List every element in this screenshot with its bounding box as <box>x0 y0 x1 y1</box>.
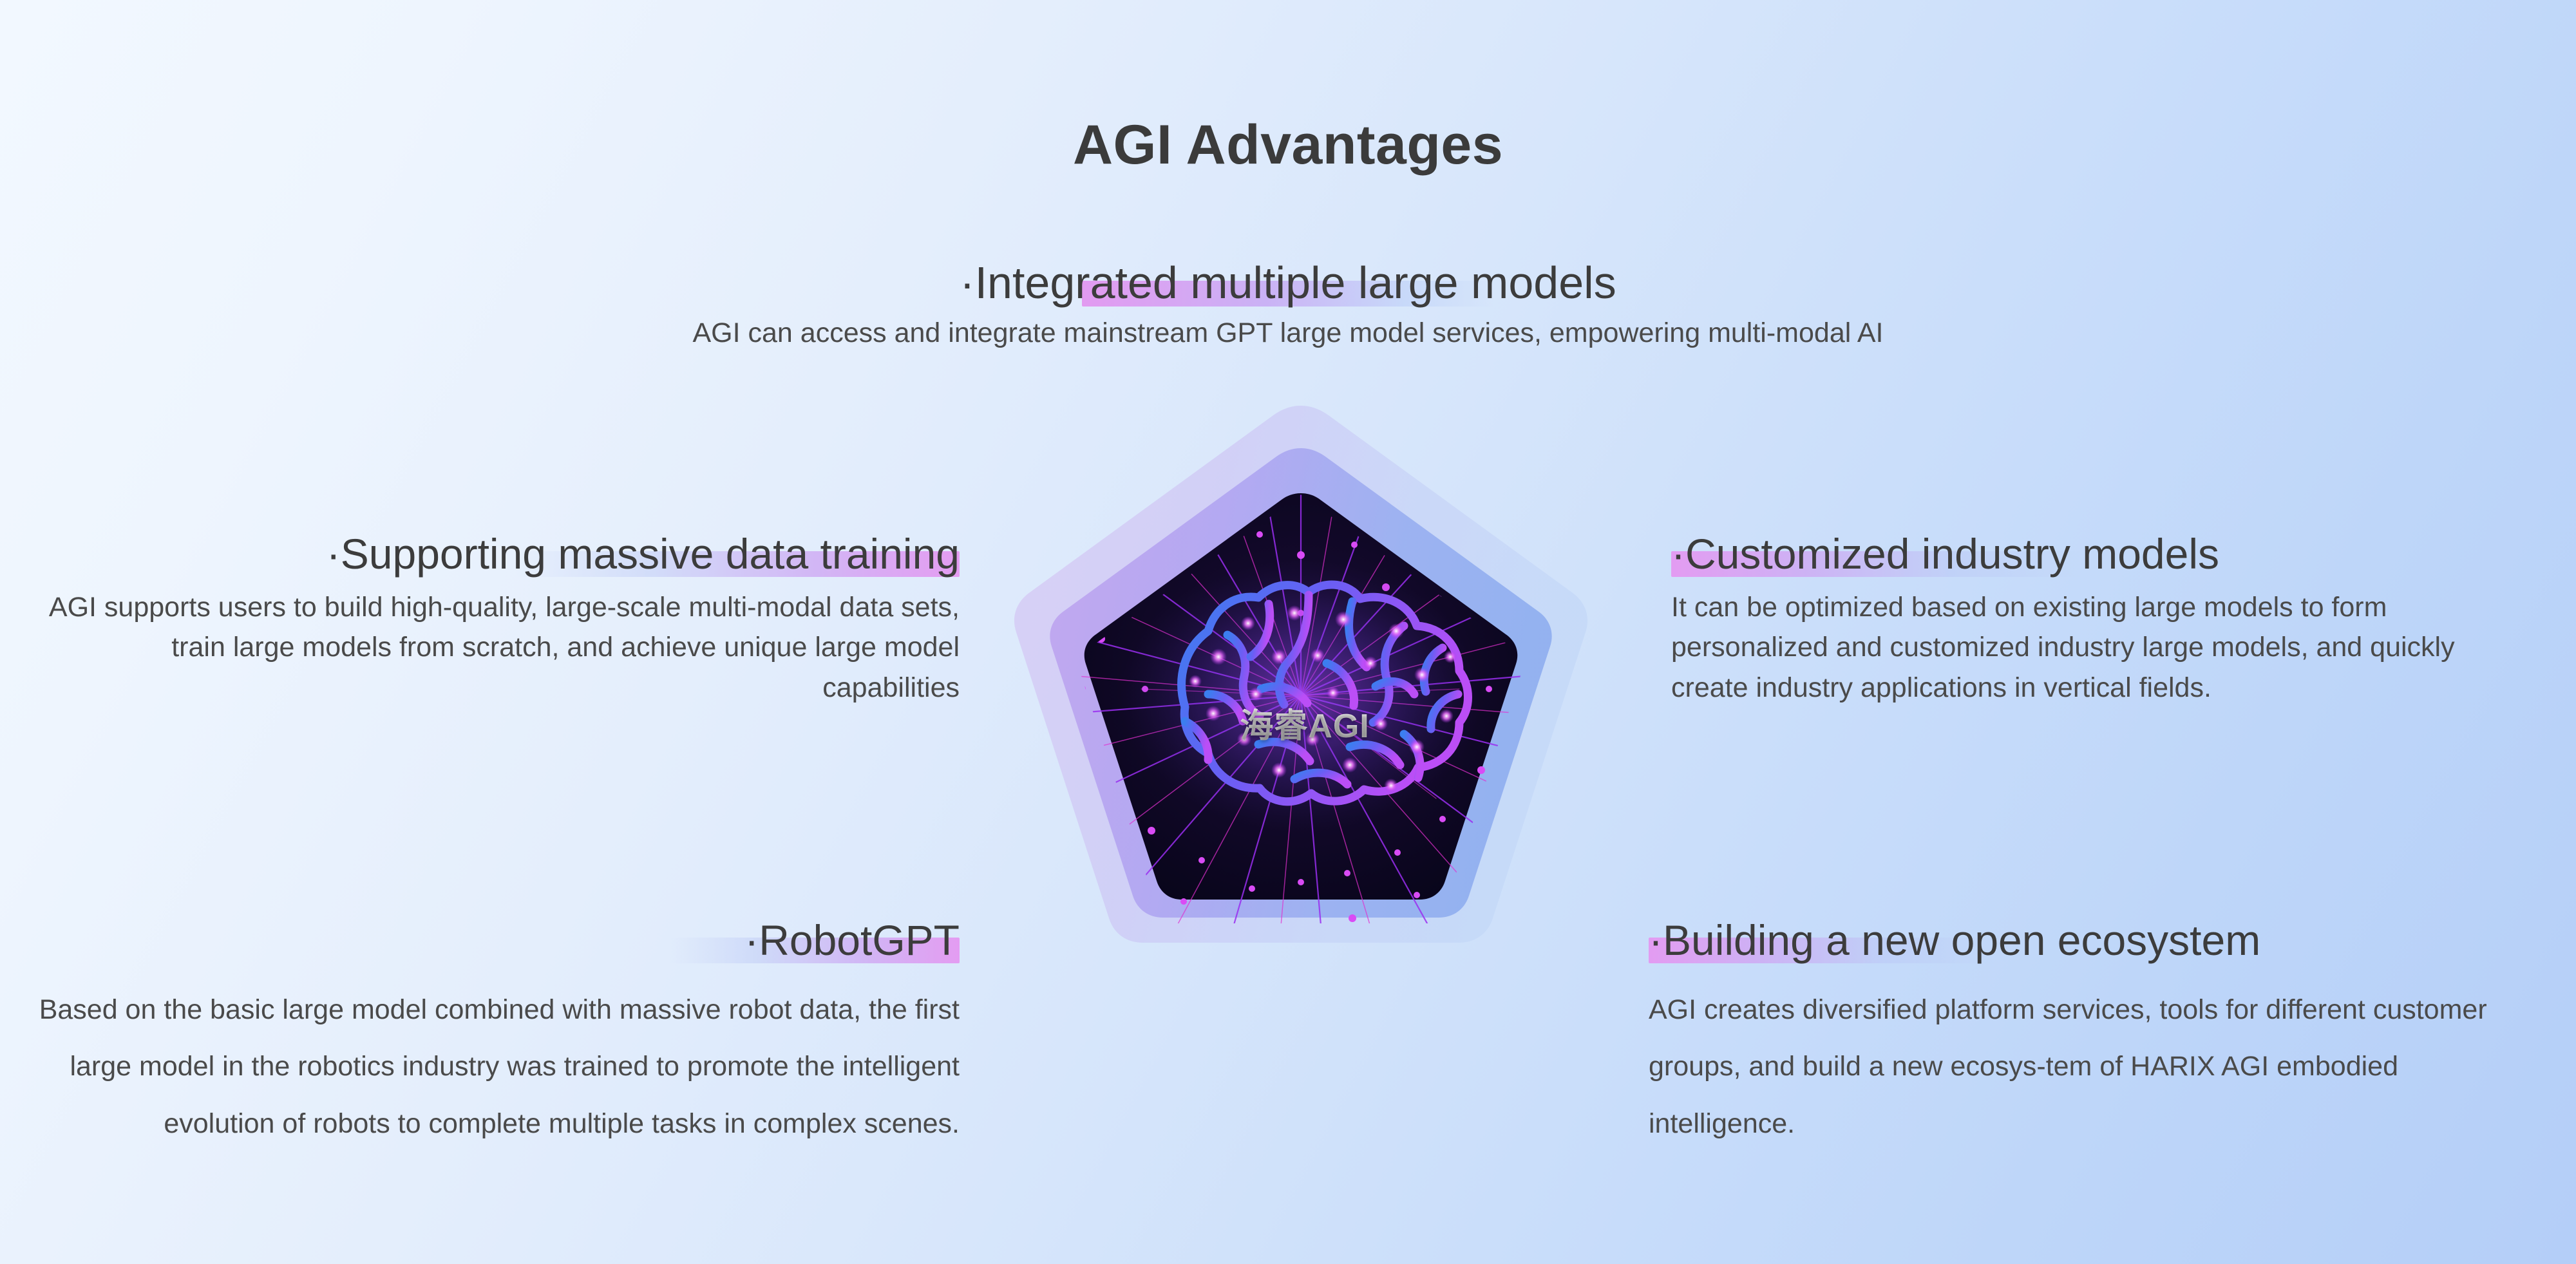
feature-body-text: AGI can access and integrate mainstream … <box>0 314 2576 352</box>
feature-heading: ·Supporting massive data training <box>39 531 960 578</box>
feature-bullet: · <box>327 530 341 578</box>
feature-body-text: AGI creates diversified platform service… <box>1649 981 2537 1153</box>
pentagon-brain-graphic: 海睿AGI <box>992 386 1610 1095</box>
feature-block-customized-industry-models: ·Customized industry models It can be op… <box>1671 531 2534 708</box>
page-title: AGI Advantages <box>0 113 2576 177</box>
feature-heading-text: Building a new open ecosystem <box>1663 916 2260 964</box>
feature-block-robotgpt: ·RobotGPT Based on the basic large model… <box>39 917 960 1153</box>
feature-heading-text: RobotGPT <box>759 916 960 964</box>
feature-heading: ·Customized industry models <box>1671 531 2534 578</box>
feature-bullet: · <box>1649 916 1663 964</box>
feature-heading-text: Customized industry models <box>1685 530 2219 578</box>
feature-heading-text: Integrated multiple large models <box>975 258 1616 308</box>
feature-block-massive-data-training: ·Supporting massive data training AGI su… <box>39 531 960 708</box>
feature-body-text: AGI supports users to build high-quality… <box>39 587 960 708</box>
feature-heading-text: Supporting massive data training <box>341 530 960 578</box>
feature-bullet: · <box>1671 530 1685 578</box>
feature-block-open-ecosystem: ·Building a new open ecosystem AGI creat… <box>1649 917 2537 1153</box>
feature-bullet: · <box>960 258 974 308</box>
feature-bullet: · <box>744 916 759 964</box>
feature-heading: ·Building a new open ecosystem <box>1649 917 2537 965</box>
feature-heading: ·Integrated multiple large models <box>0 258 2576 308</box>
feature-heading: ·RobotGPT <box>39 917 960 965</box>
feature-body-text: It can be optimized based on existing la… <box>1671 587 2534 708</box>
feature-body-text: Based on the basic large model combined … <box>39 981 960 1153</box>
feature-block-integrated-models: ·Integrated multiple large models AGI ca… <box>0 258 2576 352</box>
